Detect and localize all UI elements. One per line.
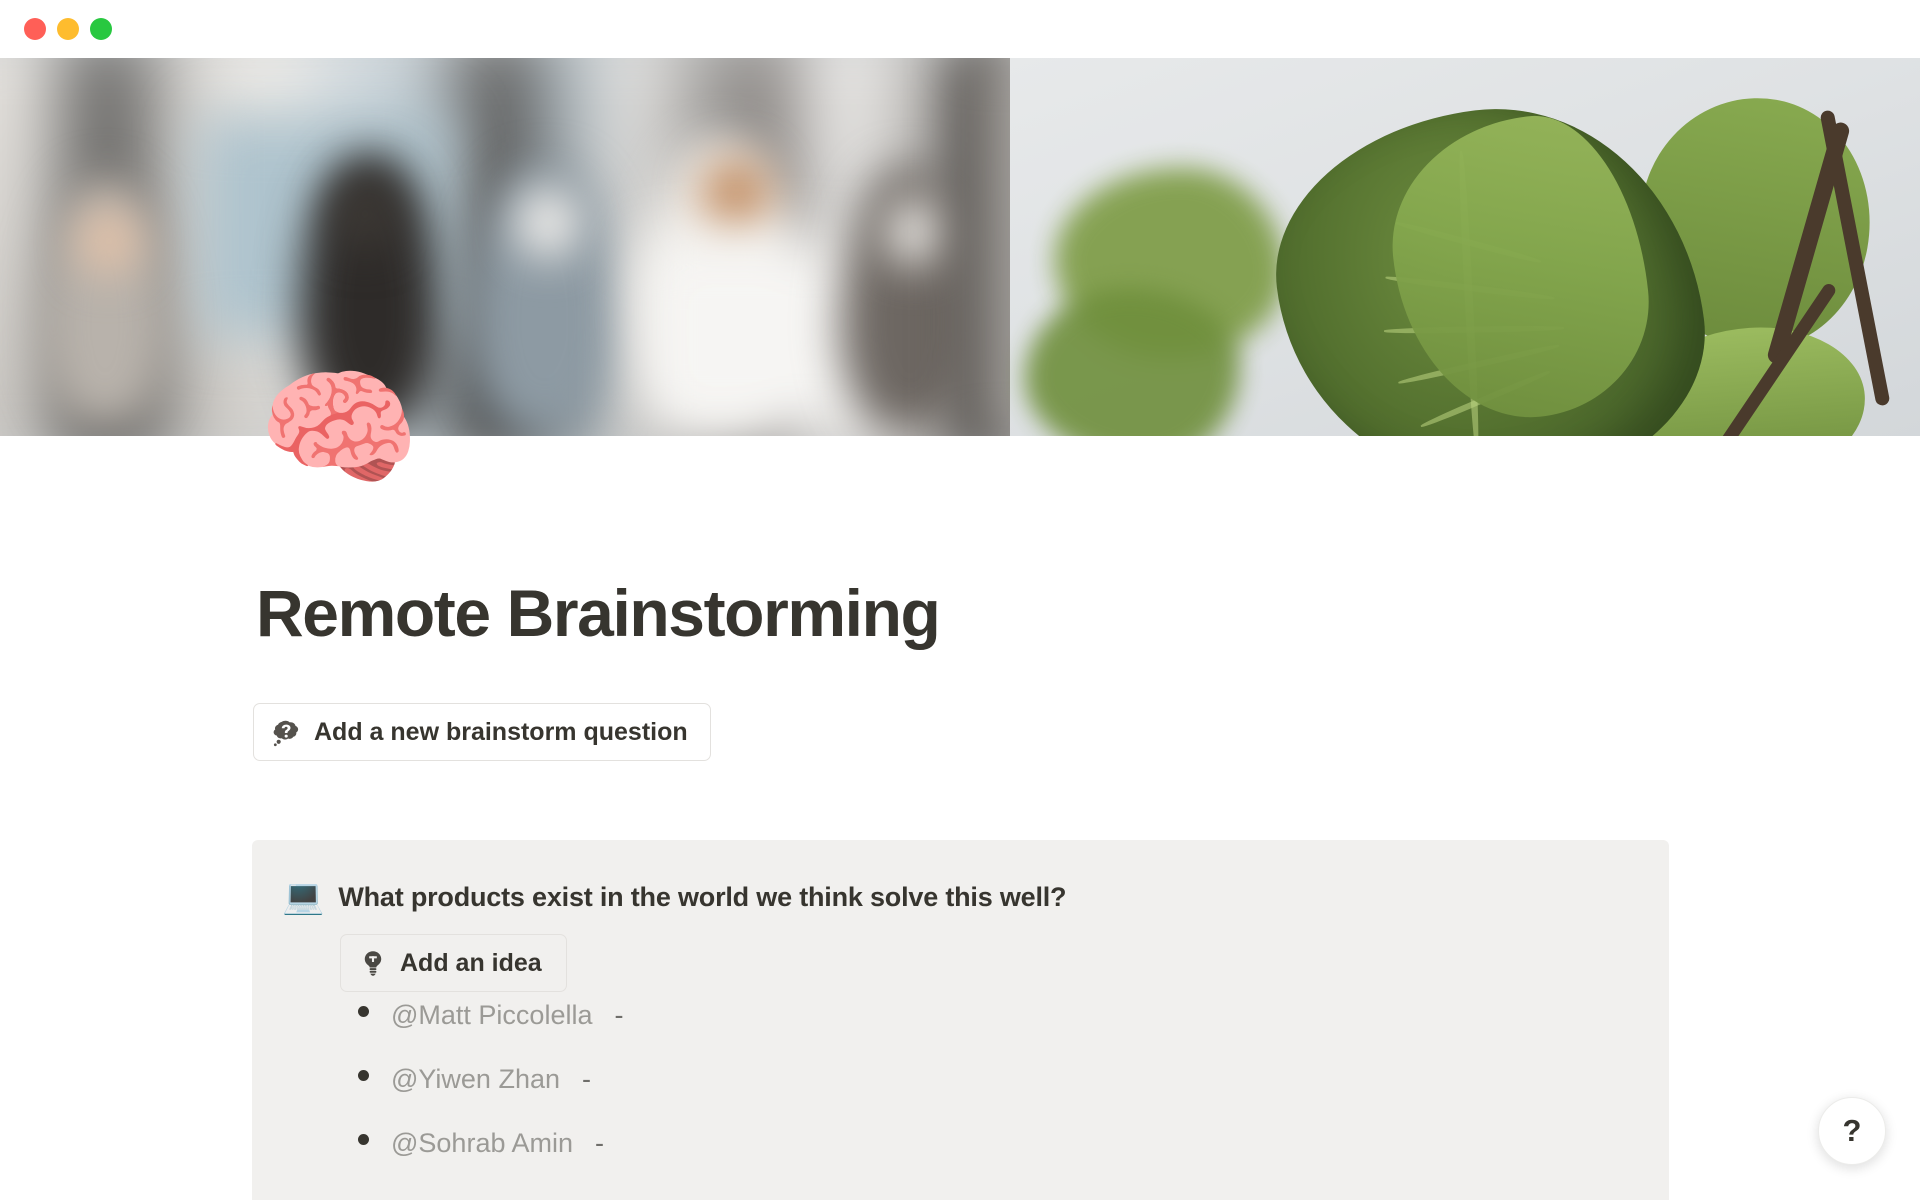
idea-text: - bbox=[614, 1000, 623, 1031]
laptop-emoji-icon: 💻 bbox=[282, 880, 324, 914]
question-heading[interactable]: What products exist in the world we thin… bbox=[338, 882, 1066, 913]
add-brainstorm-question-label: Add a new brainstorm question bbox=[314, 718, 688, 747]
list-item[interactable]: @Matt Piccolella - bbox=[358, 1000, 623, 1064]
minimize-window-button[interactable] bbox=[57, 18, 79, 40]
add-brainstorm-question-button[interactable]: Add a new brainstorm question bbox=[253, 703, 711, 761]
close-window-button[interactable] bbox=[24, 18, 46, 40]
idea-list: @Matt Piccolella - @Yiwen Zhan - @Sohrab… bbox=[358, 1000, 623, 1192]
page-title[interactable]: Remote Brainstorming bbox=[256, 575, 939, 651]
add-idea-button[interactable]: Add an idea bbox=[340, 934, 567, 992]
bullet-icon bbox=[358, 1134, 369, 1145]
mention-chip[interactable]: @Yiwen Zhan bbox=[391, 1064, 560, 1095]
brain-emoji-icon[interactable]: 🧠 bbox=[258, 363, 416, 493]
thought-balloon-question-icon bbox=[271, 717, 301, 747]
window-titlebar bbox=[0, 0, 1920, 58]
light-bulb-icon bbox=[359, 949, 387, 977]
list-item[interactable]: @Sohrab Amin - bbox=[358, 1128, 623, 1192]
question-heading-row: 💻 What products exist in the world we th… bbox=[282, 880, 1066, 914]
bullet-icon bbox=[358, 1070, 369, 1081]
window-controls bbox=[24, 18, 112, 40]
mention-chip[interactable]: @Sohrab Amin bbox=[391, 1128, 573, 1159]
idea-text: - bbox=[582, 1064, 591, 1095]
help-button[interactable]: ? bbox=[1818, 1097, 1886, 1165]
add-idea-label: Add an idea bbox=[400, 949, 542, 978]
bullet-icon bbox=[358, 1006, 369, 1017]
idea-text: - bbox=[595, 1128, 604, 1159]
list-item[interactable]: @Yiwen Zhan - bbox=[358, 1064, 623, 1128]
maximize-window-button[interactable] bbox=[90, 18, 112, 40]
mention-chip[interactable]: @Matt Piccolella bbox=[391, 1000, 592, 1031]
